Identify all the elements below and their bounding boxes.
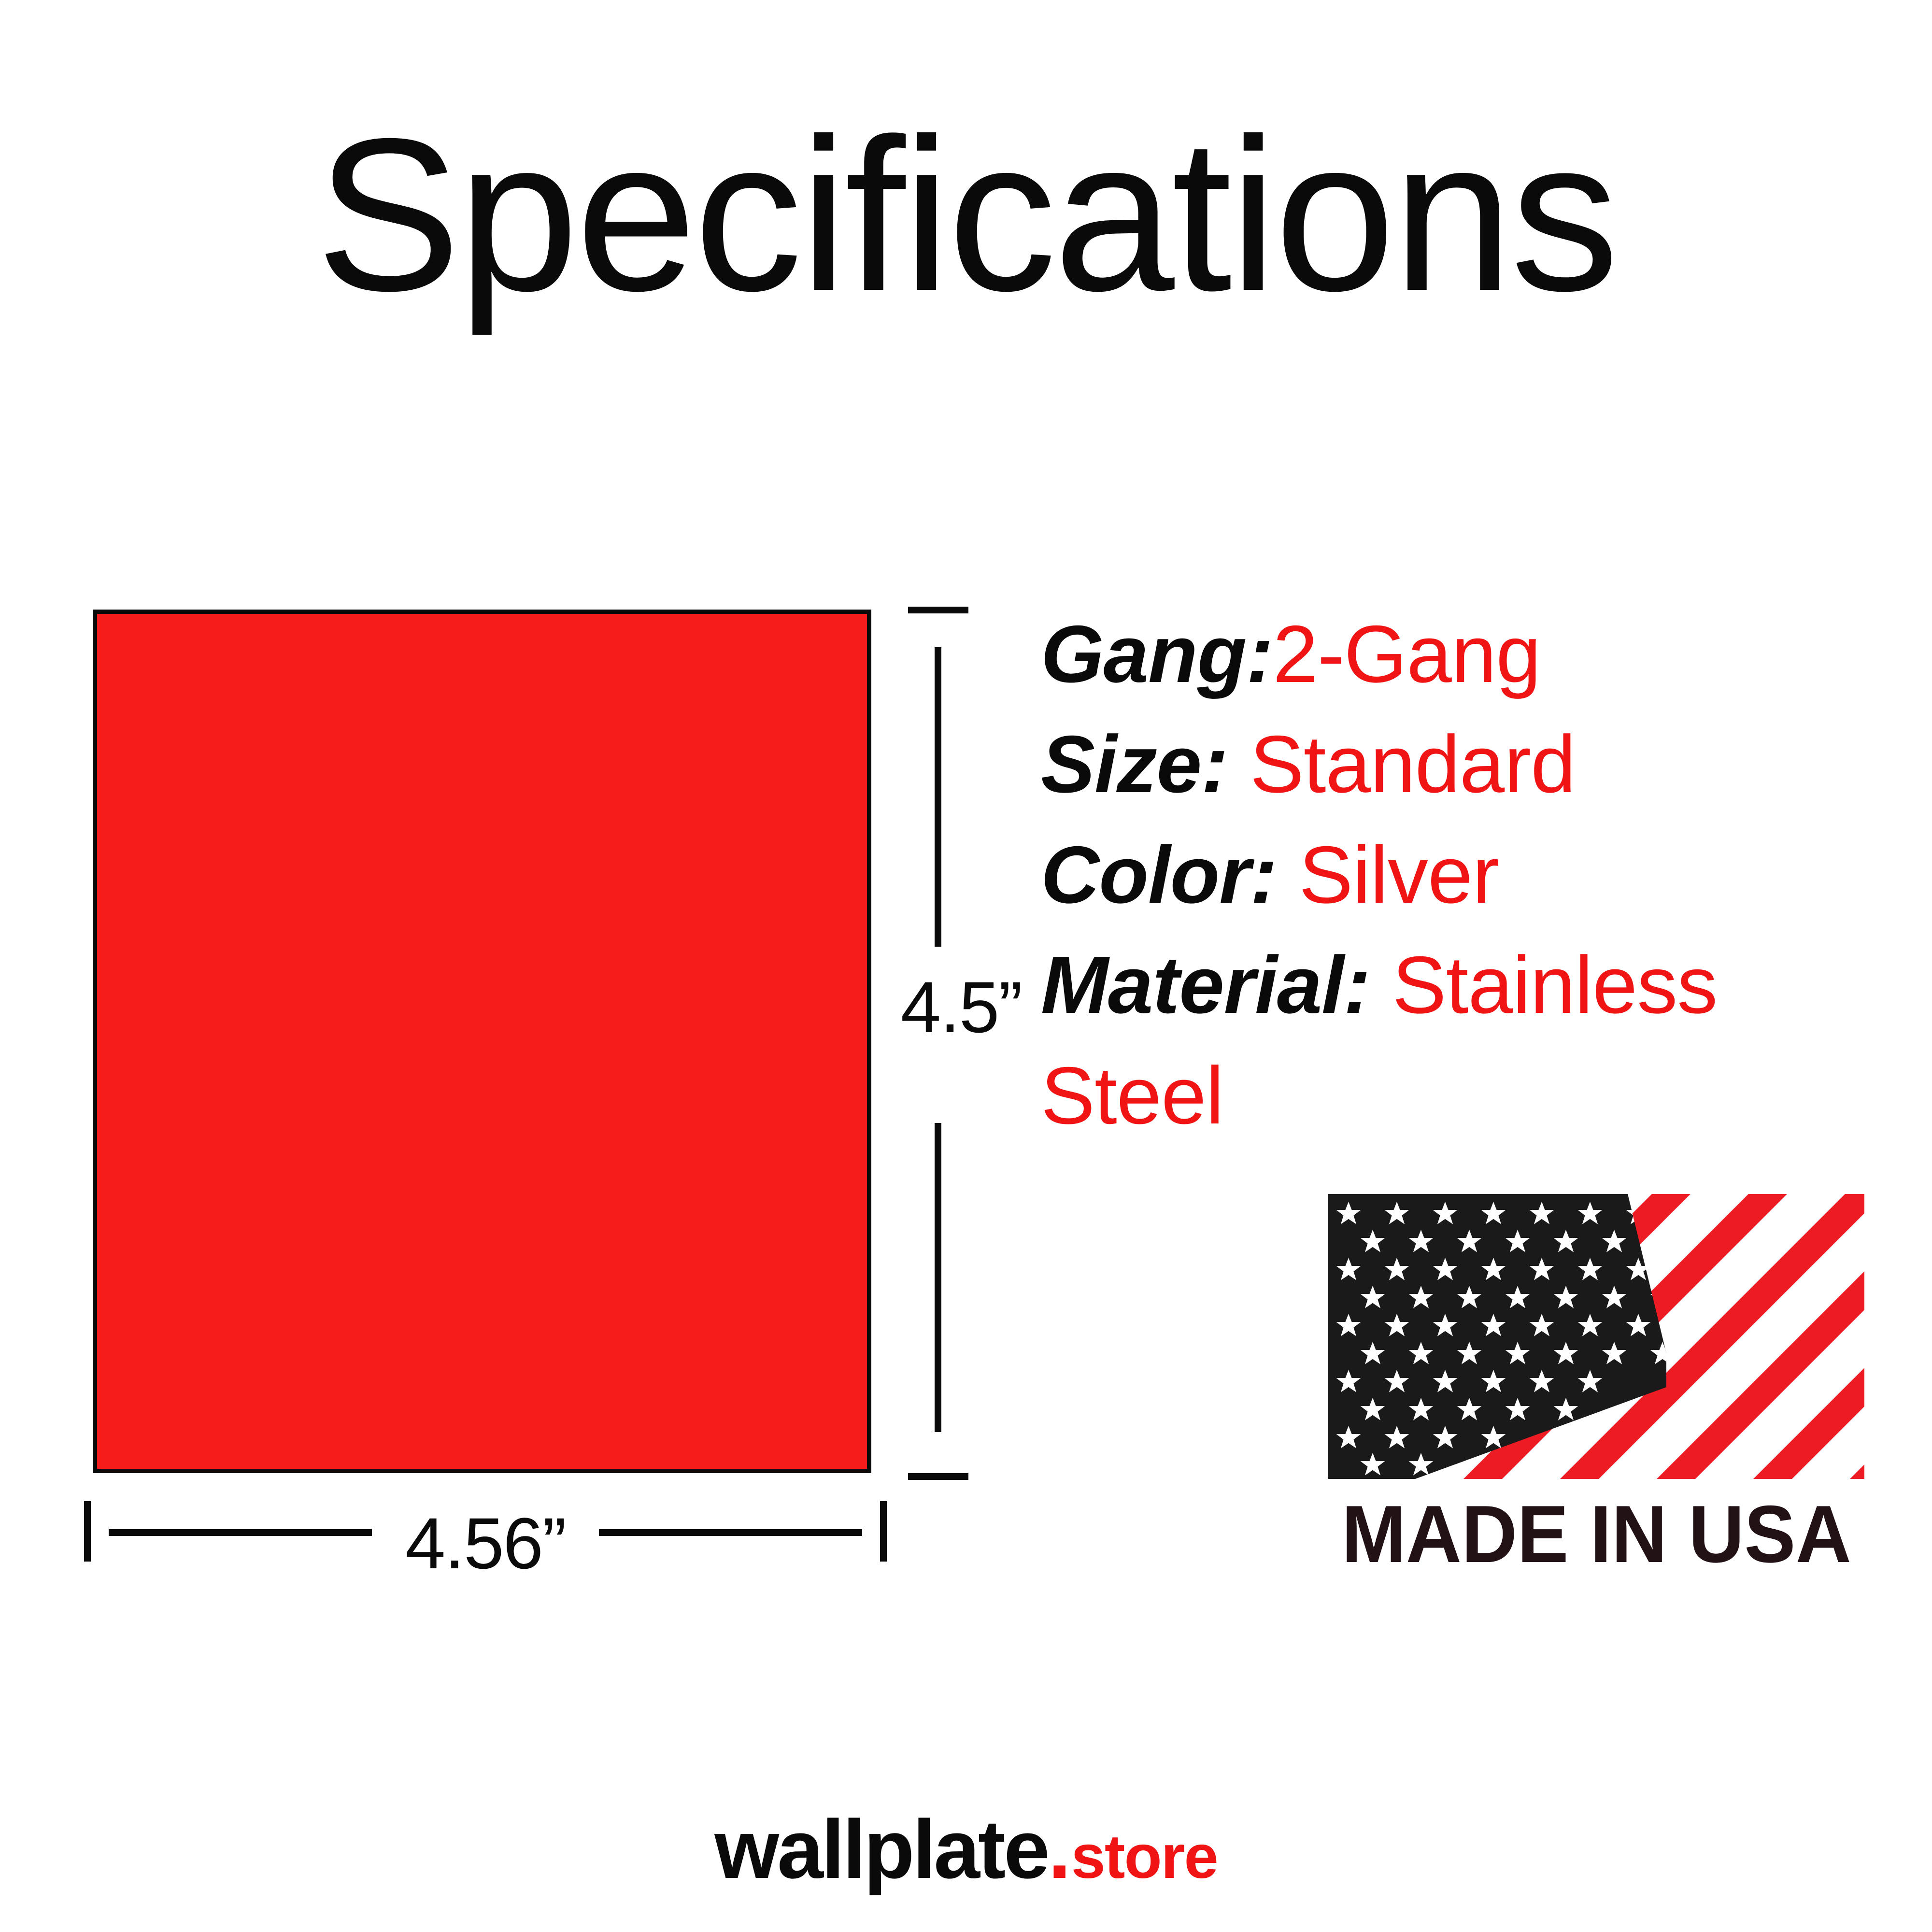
width-dimension-line-right	[599, 1529, 862, 1536]
width-dimension-label: 4.56”	[82, 1507, 889, 1579]
spec-row-material: Material: Stainless Steel	[1041, 930, 1910, 1151]
made-in-usa-label: MADE IN USA	[1342, 1493, 1851, 1575]
brand-name: wallplate	[714, 1803, 1048, 1896]
brand-dot-separator: .	[1048, 1803, 1071, 1896]
product-swatch	[93, 610, 871, 1473]
spec-label-gang: Gang:	[1041, 609, 1273, 699]
spec-value-color: Silver	[1299, 829, 1499, 920]
height-tick-top-icon	[908, 607, 968, 613]
spec-value-gang: 2-Gang	[1273, 609, 1540, 699]
spec-list: Gang:2-Gang Size: Standard Color: Silver…	[1041, 599, 1910, 1151]
spec-row-size: Size: Standard	[1041, 709, 1910, 819]
height-tick-bottom-icon	[908, 1473, 968, 1480]
spec-row-gang: Gang:2-Gang	[1041, 599, 1910, 709]
spec-row-color: Color: Silver	[1041, 820, 1910, 930]
spec-label-material: Material:	[1041, 939, 1392, 1030]
height-dimension-line-upper	[935, 647, 941, 947]
page-title: Specifications	[0, 106, 1932, 324]
spec-label-color: Color:	[1041, 829, 1299, 920]
brand-footer: wallplate.store	[0, 1802, 1932, 1897]
brand-tld: store	[1071, 1822, 1218, 1891]
height-dimension-line-lower	[935, 1123, 941, 1432]
spec-value-size: Standard	[1250, 719, 1576, 810]
height-dimension: 4.5”	[906, 604, 1031, 1483]
made-in-usa-badge: MADE IN USA	[1328, 1194, 1864, 1605]
usa-flag-icon	[1328, 1194, 1864, 1479]
width-dimension: 4.56”	[82, 1492, 889, 1604]
height-dimension-label: 4.5”	[896, 971, 1026, 1043]
spec-label-size: Size:	[1041, 719, 1250, 810]
width-tick-right-icon	[880, 1501, 887, 1562]
